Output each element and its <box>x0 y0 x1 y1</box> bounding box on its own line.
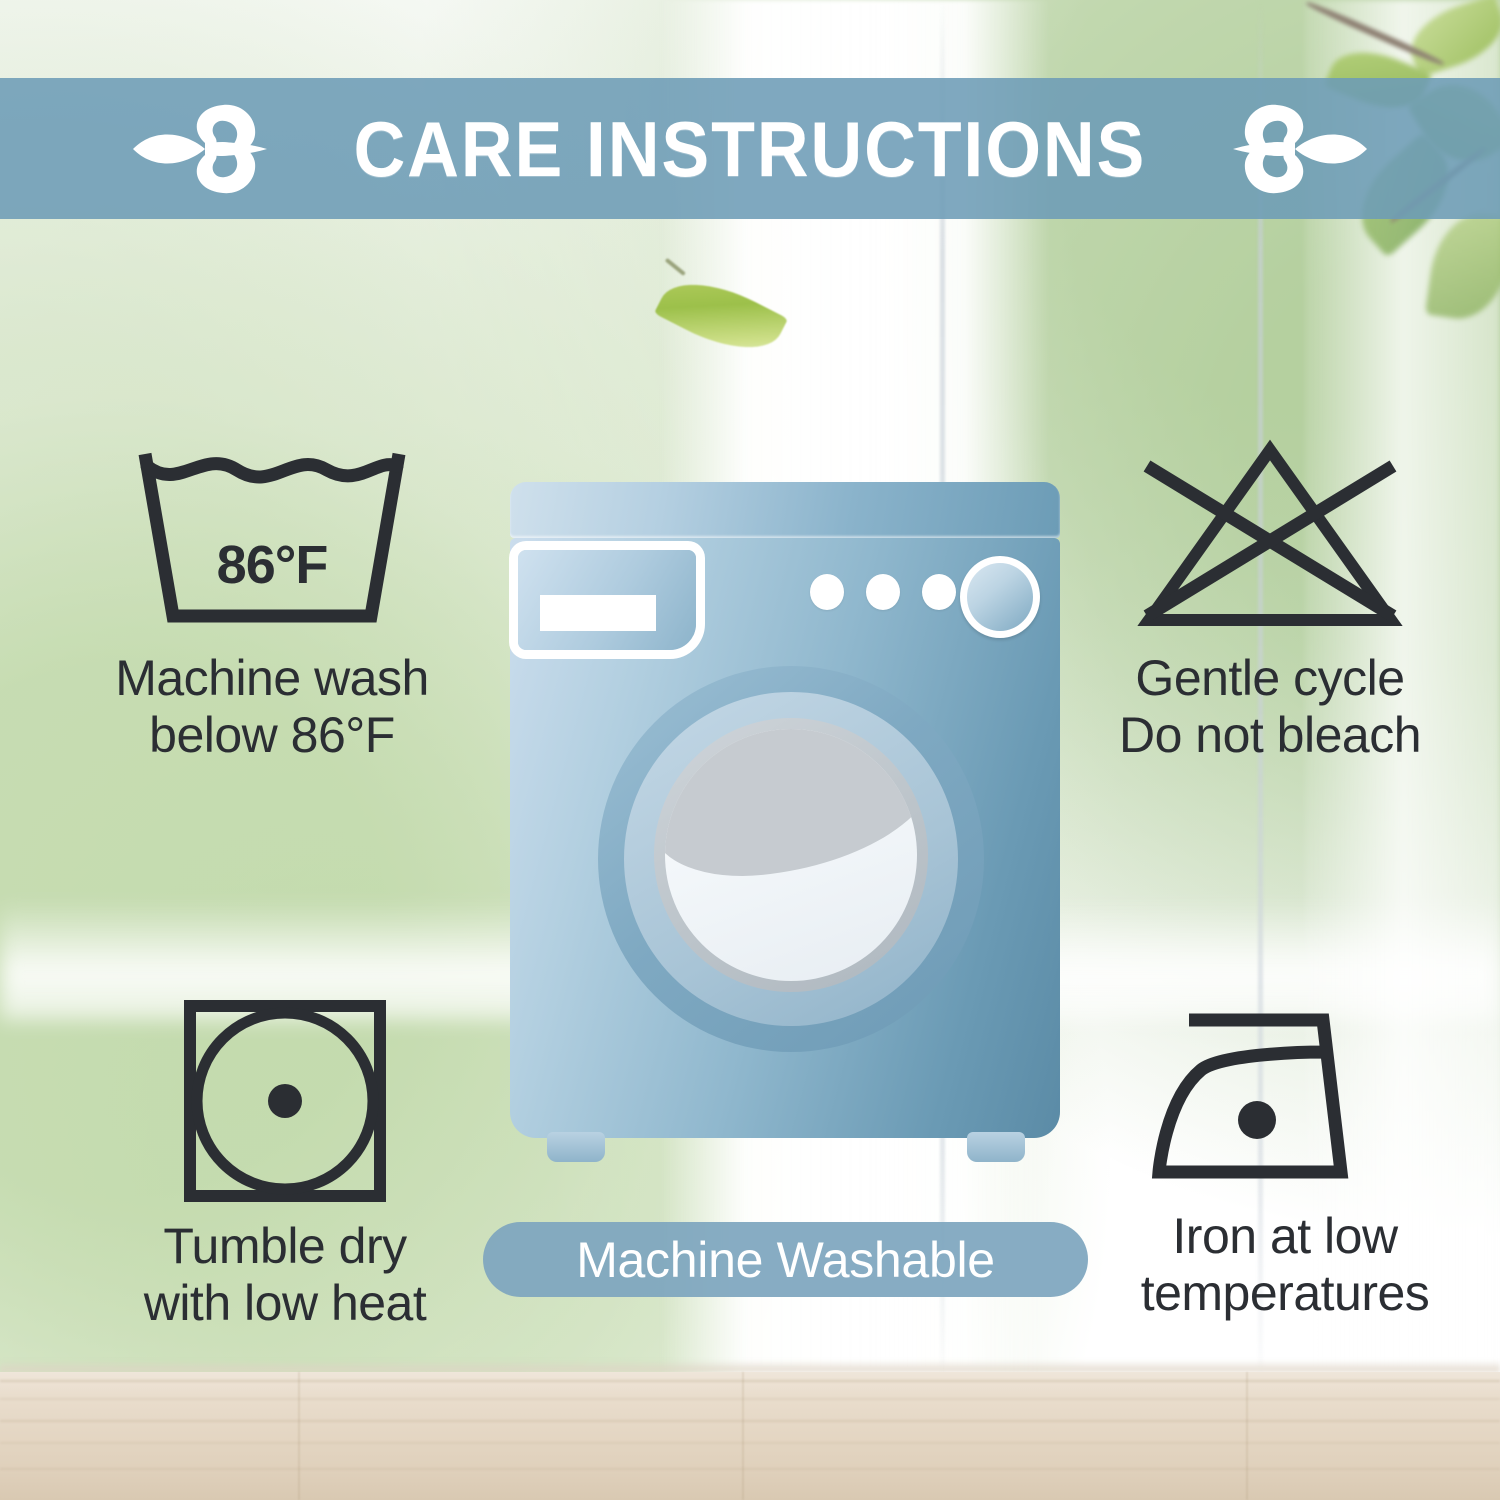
care-item-tumble-dry: Tumble dry with low heat <box>80 996 490 1332</box>
tumble-dry-low-icon <box>180 996 390 1206</box>
machine-foot <box>547 1132 605 1162</box>
care-item-caption: Tumble dry with low heat <box>144 1218 427 1332</box>
wash-temperature-label: 86°F <box>127 534 417 596</box>
detergent-drawer-slot <box>540 595 656 631</box>
care-item-caption: Iron at low temperatures <box>1141 1208 1430 1322</box>
machine-door-inner-ring <box>624 692 958 1026</box>
wood-table-surface <box>0 1372 1500 1500</box>
table-edge <box>0 1360 1500 1372</box>
machine-body <box>510 538 1060 1138</box>
machine-door-gasket <box>654 718 928 992</box>
page-title: CARE INSTRUCTIONS <box>354 110 1147 188</box>
indicator-light-icon <box>866 574 900 610</box>
washing-machine-illustration <box>505 482 1065 1172</box>
care-instructions-card: CARE INSTRUCTIONS 86°F Machine wash belo… <box>0 0 1500 1500</box>
indicator-lights <box>810 574 956 610</box>
indicator-light-icon <box>810 574 844 610</box>
machine-foot <box>967 1132 1025 1162</box>
do-not-bleach-triangle-icon <box>1125 438 1415 638</box>
machine-washable-badge: Machine Washable <box>483 1222 1088 1297</box>
care-item-iron: Iron at low temperatures <box>1080 996 1490 1322</box>
badge-label: Machine Washable <box>576 1231 995 1289</box>
wash-tub-icon: 86°F <box>127 438 417 638</box>
header-banner: CARE INSTRUCTIONS <box>0 78 1500 219</box>
fleur-de-lis-icon <box>127 97 277 201</box>
machine-door-outer-ring <box>598 666 984 1052</box>
care-item-machine-wash: 86°F Machine wash below 86°F <box>52 438 492 764</box>
indicator-light-icon <box>922 574 956 610</box>
fleur-de-lis-icon <box>1223 97 1373 201</box>
machine-top-panel <box>510 482 1060 538</box>
iron-low-temp-icon <box>1145 996 1425 1196</box>
care-item-caption: Gentle cycle Do not bleach <box>1119 650 1421 764</box>
machine-door-glass <box>665 729 917 981</box>
care-item-do-not-bleach: Gentle cycle Do not bleach <box>1060 438 1480 764</box>
care-item-caption: Machine wash below 86°F <box>115 650 429 764</box>
detergent-drawer <box>518 550 696 650</box>
program-knob <box>960 556 1040 638</box>
